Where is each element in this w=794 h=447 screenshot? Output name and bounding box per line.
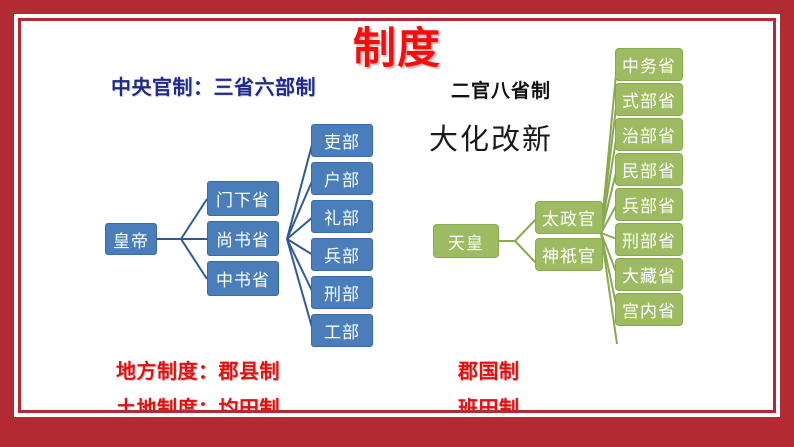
node-jibusho[interactable]: 治部省 [615,118,683,151]
node-label: 治部省 [622,122,676,147]
left-caption-land-system: 土地制度：均田制 [116,392,280,410]
node-shikibusho[interactable]: 式部省 [615,83,683,116]
node-label: 门下省 [216,186,270,211]
node-libu-rites[interactable]: 礼部 [311,200,373,233]
right-section-heading: 二官八省制 [451,76,551,103]
left-caption-local-system: 地方制度：郡县制 [116,355,280,384]
node-libu[interactable]: 吏部 [311,124,373,157]
node-label: 工部 [324,318,360,343]
node-tenno[interactable]: 天皇 [433,224,499,258]
node-label: 户部 [324,166,360,191]
node-label: 刑部 [324,280,360,305]
node-okurasho[interactable]: 大藏省 [615,258,683,291]
node-label: 刑部省 [622,227,676,252]
node-zhongshusheng[interactable]: 中书省 [207,261,279,296]
node-shangshusheng[interactable]: 尚书省 [207,221,279,256]
node-menxiasheng[interactable]: 门下省 [207,181,279,216]
node-label: 兵部省 [622,192,676,217]
right-section-subheading: 大化改新 [429,116,553,158]
node-label: 大藏省 [622,262,676,287]
slide-content-area: 制度 中央官制：三省六部制 皇帝 门下省 [21,21,773,410]
node-label: 皇帝 [113,227,149,252]
node-kunaisho[interactable]: 宫内省 [615,293,683,326]
node-label: 兵部 [324,242,360,267]
node-nakatsukasasho[interactable]: 中务省 [615,48,683,81]
node-label: 中务省 [622,52,676,77]
slide-canvas: 制度 中央官制：三省六部制 皇帝 门下省 [0,0,794,447]
node-label: 式部省 [622,87,676,112]
right-caption-handen-system: 班田制 [458,392,520,410]
node-daijokan[interactable]: 太政官 [535,201,603,234]
right-caption-gunkoku-system: 郡国制 [458,355,520,384]
node-label: 宫内省 [622,297,676,322]
node-label: 民部省 [622,157,676,182]
node-label: 神祇官 [542,242,596,267]
node-label: 中书省 [216,266,270,291]
node-label: 尚书省 [216,226,270,251]
node-bingbu[interactable]: 兵部 [311,238,373,271]
node-minbusho[interactable]: 民部省 [615,153,683,186]
node-xingbu[interactable]: 刑部 [311,276,373,309]
node-emperor[interactable]: 皇帝 [105,223,157,255]
node-gyobusho[interactable]: 刑部省 [615,223,683,256]
node-label: 吏部 [324,128,360,153]
node-hyobusho[interactable]: 兵部省 [615,188,683,221]
node-label: 天皇 [448,229,484,254]
left-section-heading: 中央官制：三省六部制 [111,71,316,100]
node-jingikan[interactable]: 神祇官 [535,238,603,271]
node-gongbu[interactable]: 工部 [311,314,373,347]
node-hubu[interactable]: 户部 [311,162,373,195]
node-label: 太政官 [542,205,596,230]
node-label: 礼部 [324,204,360,229]
